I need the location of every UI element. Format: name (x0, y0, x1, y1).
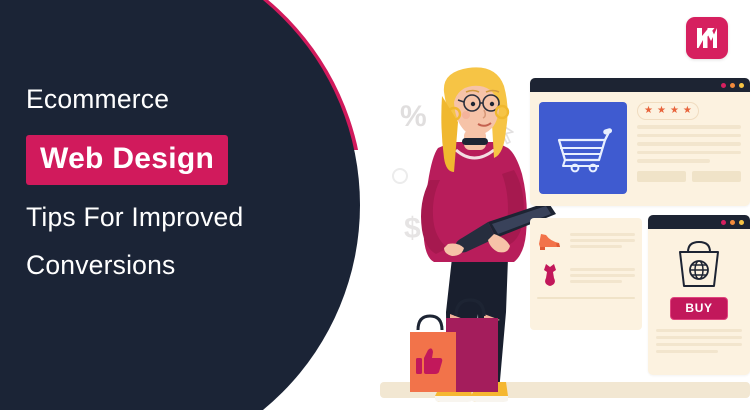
headline-block: Ecommerce Web Design Tips For Improved C… (26, 86, 356, 279)
window-dot-maximize-icon[interactable] (739, 83, 744, 88)
product-browser-window[interactable]: ★ ★ ★ ★ (530, 78, 750, 206)
star-icon-2: ★ (657, 106, 666, 116)
window-dot-close-icon[interactable] (721, 220, 726, 225)
rating-stars[interactable]: ★ ★ ★ ★ (637, 102, 699, 120)
headline-line-3: Tips For Improved (26, 204, 356, 231)
list-item[interactable] (537, 261, 635, 289)
dress-icon (539, 262, 561, 288)
text-line (656, 343, 742, 346)
product-list-panel[interactable] (530, 218, 642, 330)
secondary-action-button[interactable] (692, 171, 741, 182)
window-titlebar (648, 215, 750, 229)
text-line (570, 245, 622, 248)
text-line (637, 151, 741, 155)
window-dot-minimize-icon[interactable] (730, 83, 735, 88)
high-heel-shoe-icon (537, 228, 563, 252)
text-line (570, 274, 635, 277)
window-body: ★ ★ ★ ★ (530, 92, 750, 204)
list-item-thumb (537, 226, 563, 254)
text-line (637, 159, 710, 163)
text-line (656, 329, 742, 332)
illustration: % $ (380, 0, 750, 410)
list-item-lines (570, 268, 635, 283)
headline-highlight: Web Design (26, 135, 228, 185)
action-button-row (637, 171, 741, 182)
text-line (656, 350, 718, 353)
text-line (570, 233, 635, 236)
headline-line-4: Conversions (26, 252, 356, 279)
text-line (570, 239, 635, 242)
list-item-lines (570, 233, 635, 248)
window-dot-minimize-icon[interactable] (730, 220, 735, 225)
text-line (637, 134, 741, 138)
shopping-bags-illustration (402, 296, 532, 400)
checkout-browser-window[interactable]: BUY (648, 215, 750, 375)
star-icon-1: ★ (644, 106, 653, 116)
list-divider (537, 297, 635, 299)
text-line (656, 336, 742, 339)
primary-action-button[interactable] (637, 171, 686, 182)
product-image[interactable] (539, 102, 627, 194)
text-line (570, 280, 622, 283)
star-icon-4: ★ (683, 106, 692, 116)
text-line (637, 125, 741, 129)
list-item[interactable] (537, 226, 635, 254)
checkout-text-lines (656, 329, 742, 353)
window-dot-close-icon[interactable] (721, 83, 726, 88)
window-titlebar (530, 78, 750, 92)
text-line (570, 268, 635, 271)
star-icon-3: ★ (670, 106, 679, 116)
km-logo[interactable] (686, 17, 728, 59)
buy-button[interactable]: BUY (670, 297, 727, 320)
window-body: BUY (648, 229, 750, 362)
headline-line-1: Ecommerce (26, 86, 356, 113)
window-dot-maximize-icon[interactable] (739, 220, 744, 225)
product-details: ★ ★ ★ ★ (637, 102, 741, 194)
banner-canvas: Ecommerce Web Design Tips For Improved C… (0, 0, 750, 410)
text-line (637, 142, 741, 146)
list-item-thumb (537, 261, 563, 289)
shopping-bag-globe-icon (670, 238, 728, 290)
km-monogram-icon (694, 25, 720, 51)
shopping-cart-icon (553, 122, 613, 174)
